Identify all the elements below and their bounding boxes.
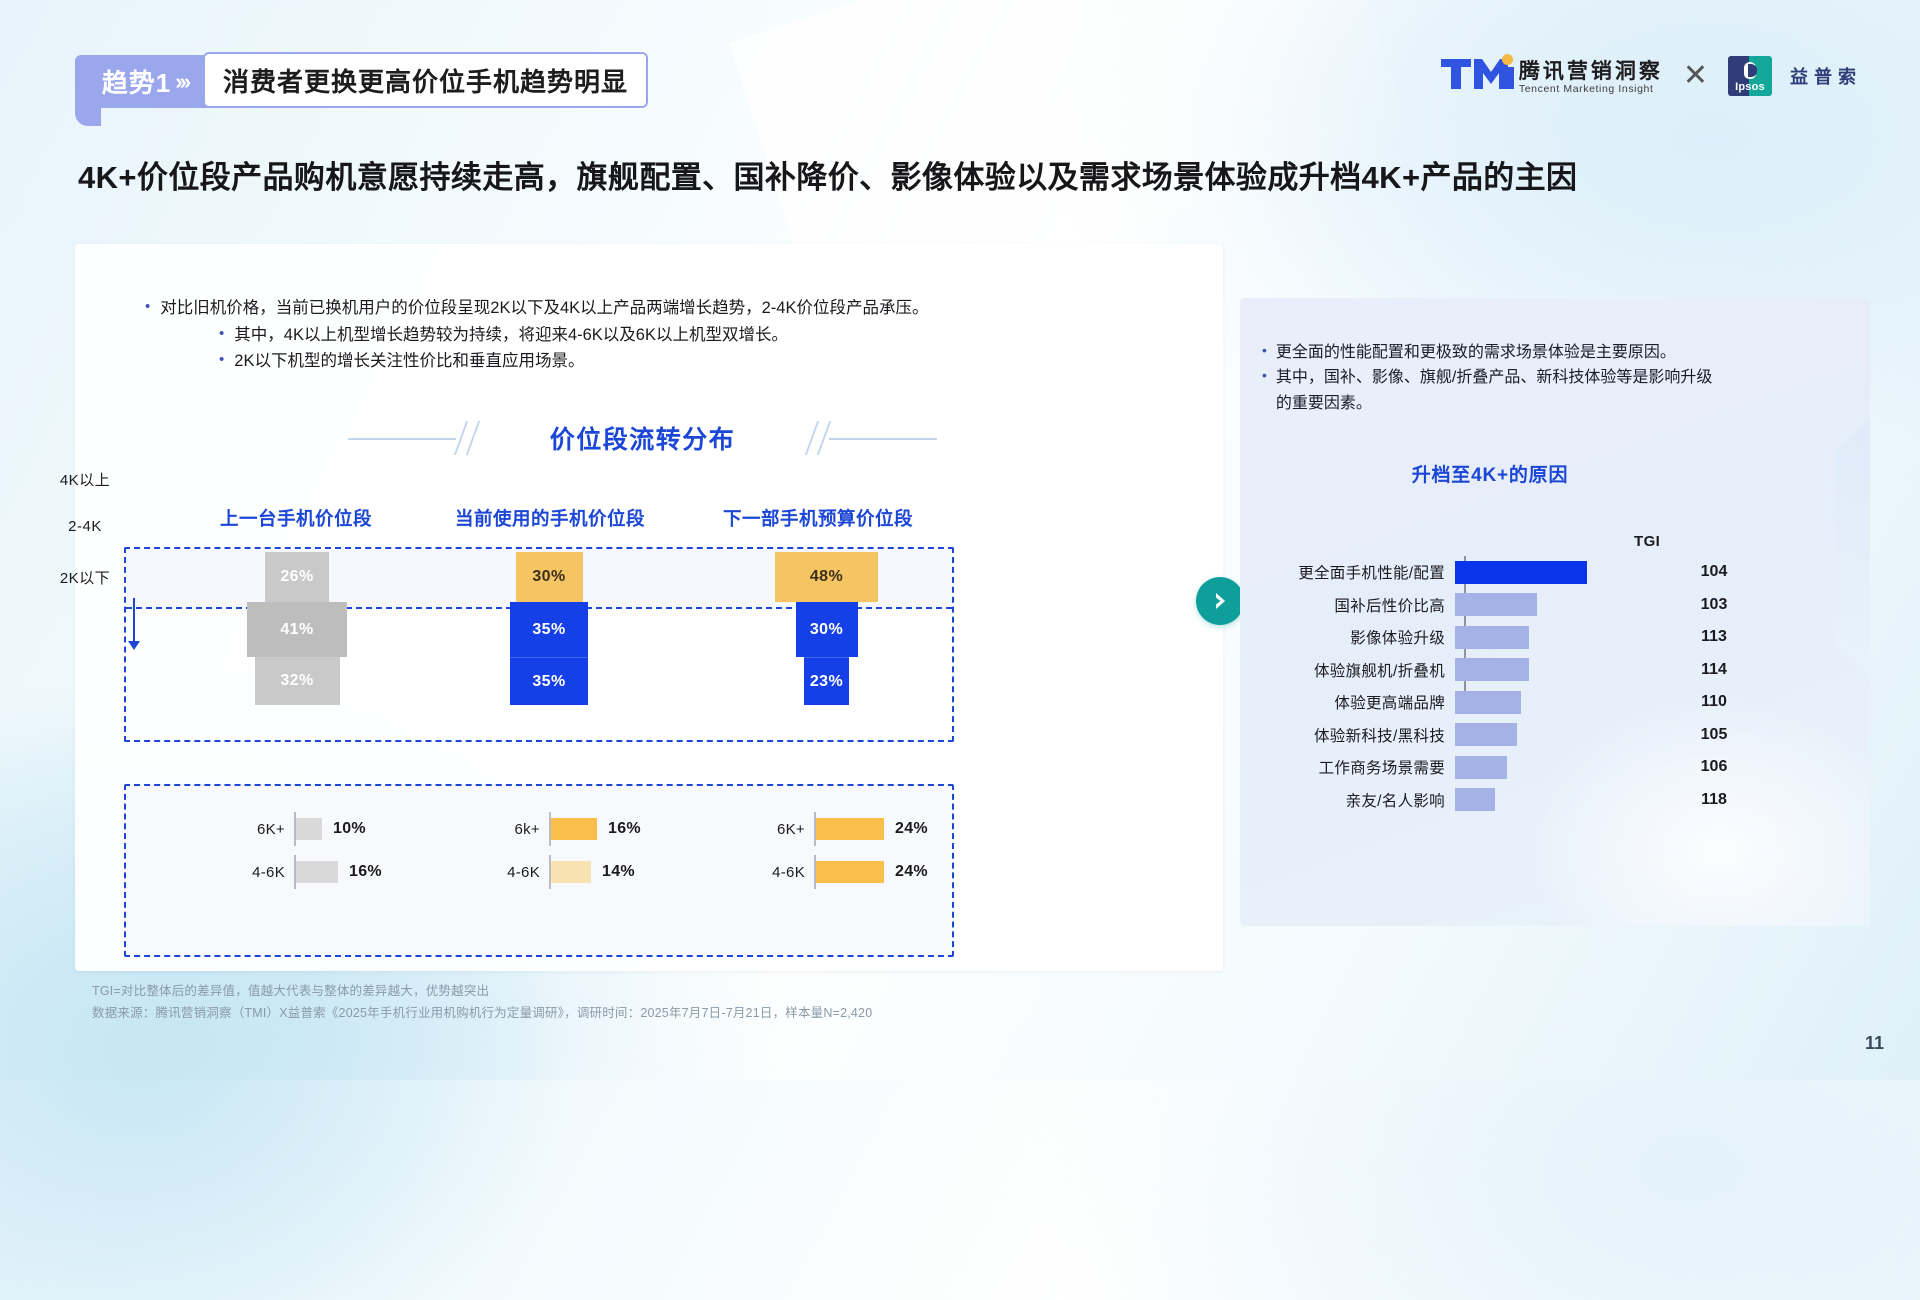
list-item: 6K+ 10% bbox=[225, 812, 382, 846]
tgi-value: 114 bbox=[1669, 661, 1759, 679]
page-number: 11 bbox=[1865, 1033, 1884, 1054]
funnel-segment: 30% bbox=[516, 552, 583, 602]
funnel-column-current: 30% 35% 35% bbox=[510, 552, 588, 705]
bullet-dot-icon: • bbox=[219, 348, 224, 372]
right-panel-title: 升档至4K+的原因 bbox=[1240, 460, 1740, 487]
trend-title: 消费者更换更高价位手机趋势明显 bbox=[203, 52, 648, 108]
tgi-bar-chart: 更全面手机性能/配置 104 国补后性价比高 103 影像体验升级 113 体验… bbox=[1035, 556, 1795, 816]
column-header-previous: 上一台手机价位段 bbox=[220, 505, 372, 531]
tgi-bar-track bbox=[1455, 593, 1635, 616]
detail-value: 16% bbox=[608, 820, 641, 838]
bullet-text: 其中，4K以上机型增长趋势较为持续，将迎来4-6K以及6K以上机型双增长。 bbox=[234, 322, 788, 349]
panel-notch bbox=[1836, 418, 1870, 678]
tgi-label: 体验更高端品牌 bbox=[1035, 691, 1455, 713]
funnel-segment: 35% bbox=[510, 657, 588, 705]
funnel-segment: 26% bbox=[265, 552, 329, 602]
footnotes: TGI=对比整体后的差异值，值越大代表与整体的差异越大，优势越突出 数据来源：腾… bbox=[92, 981, 872, 1025]
ipsos-wordmark: Ipsos bbox=[1728, 81, 1772, 93]
table-row: 影像体验升级 113 bbox=[1035, 621, 1795, 654]
funnel-segment: 41% bbox=[247, 602, 347, 657]
tgi-bar-track bbox=[1455, 756, 1635, 779]
tgi-bar-track bbox=[1455, 561, 1635, 584]
tgi-bar bbox=[1455, 593, 1537, 616]
tmi-chinese-name: 腾讯营销洞察 bbox=[1519, 61, 1663, 83]
trend-tag-label: 趋势1 bbox=[102, 63, 171, 100]
tgi-bar bbox=[1455, 788, 1495, 811]
detail-label: 4-6K bbox=[745, 864, 805, 881]
page-title: 4K+价位段产品购机意愿持续走高，旗舰配置、国补降价、影像体验以及需求场景体验成… bbox=[78, 152, 1878, 197]
funnel-segment: 48% bbox=[775, 552, 878, 602]
bullet-dot-icon: • bbox=[145, 295, 150, 319]
table-row: 体验更高端品牌 110 bbox=[1035, 686, 1795, 719]
list-item: • 其中，国补、影像、旗舰/折叠产品、新科技体验等是影响升级的重要因素。 bbox=[1262, 365, 1862, 416]
list-item: 4-6K 24% bbox=[745, 855, 928, 889]
funnel-row-label-2-4k: 2-4K bbox=[40, 518, 130, 535]
table-row: 国补后性价比高 103 bbox=[1035, 589, 1795, 622]
tmi-logomark-icon bbox=[1440, 57, 1514, 96]
column-header-next: 下一部手机预算价位段 bbox=[723, 505, 913, 531]
tgi-value: 103 bbox=[1669, 596, 1759, 614]
table-row: 工作商务场景需要 106 bbox=[1035, 751, 1795, 784]
section-title-block: 价位段流转分布 bbox=[185, 414, 1100, 462]
left-bullet-list: • 对比旧机价格，当前已换机用户的价位段呈现2K以下及4K以上产品两端增长趋势，… bbox=[145, 295, 1195, 375]
tgi-label: 亲友/名人影响 bbox=[1035, 789, 1455, 811]
detail-bar bbox=[296, 861, 338, 883]
chevrons-icon: ››› bbox=[175, 69, 188, 95]
tgi-label: 更全面手机性能/配置 bbox=[1035, 561, 1455, 583]
detail-bar bbox=[816, 818, 884, 840]
list-item: • 2K以下机型的增长关注性价比和垂直应用场景。 bbox=[219, 348, 1195, 375]
detail-label: 4-6K bbox=[480, 864, 540, 881]
tmi-logo: 腾讯营销洞察 Tencent Marketing Insight bbox=[1440, 57, 1663, 96]
table-row: 更全面手机性能/配置 104 bbox=[1035, 556, 1795, 589]
tgi-label: 工作商务场景需要 bbox=[1035, 756, 1455, 778]
detail-value: 16% bbox=[349, 863, 382, 881]
tgi-value: 113 bbox=[1669, 628, 1759, 646]
table-row: 亲友/名人影响 118 bbox=[1035, 784, 1795, 817]
tgi-value: 104 bbox=[1669, 563, 1759, 581]
detail-group-next: 6K+ 24% 4-6K 24% bbox=[745, 812, 928, 889]
detail-label: 6K+ bbox=[745, 821, 805, 838]
tgi-bar bbox=[1455, 756, 1507, 779]
bullet-dot-icon: • bbox=[219, 322, 224, 346]
right-bullet-list: • 更全面的性能配置和更极致的需求场景体验是主要原因。 • 其中，国补、影像、旗… bbox=[1262, 340, 1862, 416]
column-header-current: 当前使用的手机价位段 bbox=[455, 505, 645, 531]
ipsos-logomark-icon: Ipsos bbox=[1728, 56, 1772, 96]
tgi-bar bbox=[1455, 723, 1517, 746]
tgi-label: 国补后性价比高 bbox=[1035, 594, 1455, 616]
title-wing-left-icon bbox=[348, 421, 528, 455]
tgi-value: 118 bbox=[1669, 791, 1759, 809]
list-item: • 对比旧机价格，当前已换机用户的价位段呈现2K以下及4K以上产品两端增长趋势，… bbox=[145, 295, 1195, 322]
list-item: • 其中，4K以上机型增长趋势较为持续，将迎来4-6K以及6K以上机型双增长。 bbox=[219, 322, 1195, 349]
footnote-line-2: 数据来源：腾讯营销洞察（TMI）X益普索《2025年手机行业用机购机行为定量调研… bbox=[92, 1003, 872, 1025]
tgi-bar-track bbox=[1455, 658, 1635, 681]
detail-bar bbox=[551, 818, 597, 840]
tgi-label: 体验新科技/黑科技 bbox=[1035, 724, 1455, 746]
tgi-bar-track bbox=[1455, 626, 1635, 649]
funnel-segment: 30% bbox=[796, 602, 858, 657]
bullet-dot-icon: • bbox=[1262, 340, 1267, 362]
bullet-dot-icon: • bbox=[1262, 365, 1267, 387]
funnel-row-label-2k-below: 2K以下 bbox=[40, 567, 130, 588]
list-item: 6K+ 24% bbox=[745, 812, 928, 846]
detail-group-previous: 6K+ 10% 4-6K 16% bbox=[225, 812, 382, 889]
funnel-column-next: 48% 30% 23% bbox=[775, 552, 878, 705]
detail-bar bbox=[816, 861, 884, 883]
section-title: 价位段流转分布 bbox=[550, 420, 736, 456]
funnel-column-previous: 26% 41% 32% bbox=[247, 552, 347, 705]
tgi-label: 影像体验升级 bbox=[1035, 626, 1455, 648]
detail-label: 4-6K bbox=[225, 864, 285, 881]
tgi-bar bbox=[1455, 561, 1587, 584]
funnel-row-label-4k-plus: 4K以上 bbox=[40, 469, 130, 490]
detail-bar bbox=[296, 818, 322, 840]
tgi-bar-track bbox=[1455, 788, 1635, 811]
brand-lockup: 腾讯营销洞察 Tencent Marketing Insight ✕ Ipsos… bbox=[1440, 48, 1862, 104]
tmi-english-name: Tencent Marketing Insight bbox=[1519, 83, 1663, 96]
detail-value: 10% bbox=[333, 820, 366, 838]
tgi-bar bbox=[1455, 626, 1529, 649]
footnote-line-1: TGI=对比整体后的差异值，值越大代表与整体的差异越大，优势越突出 bbox=[92, 981, 872, 1003]
bullet-text: 对比旧机价格，当前已换机用户的价位段呈现2K以下及4K以上产品两端增长趋势，2-… bbox=[160, 295, 928, 322]
bullet-text: 其中，国补、影像、旗舰/折叠产品、新科技体验等是影响升级的重要因素。 bbox=[1276, 365, 1726, 416]
tgi-bar-track bbox=[1455, 691, 1635, 714]
list-item: 6k+ 16% bbox=[480, 812, 641, 846]
funnel-segment: 35% bbox=[510, 602, 588, 657]
trend-tag: 趋势1 ››› bbox=[75, 55, 215, 108]
list-item: • 更全面的性能配置和更极致的需求场景体验是主要原因。 bbox=[1262, 340, 1862, 365]
tmi-dot-icon bbox=[1502, 54, 1513, 65]
table-row: 体验旗舰机/折叠机 114 bbox=[1035, 654, 1795, 687]
detail-label: 6k+ bbox=[480, 821, 540, 838]
ipsos-chinese-name: 益普索 bbox=[1790, 63, 1862, 89]
brand-x-icon: ✕ bbox=[1681, 61, 1710, 91]
funnel-segment: 23% bbox=[804, 657, 849, 705]
detail-group-current: 6k+ 16% 4-6K 14% bbox=[480, 812, 641, 889]
funnel-segment: 32% bbox=[255, 657, 340, 705]
detail-bar bbox=[551, 861, 591, 883]
tgi-bar-track bbox=[1455, 723, 1635, 746]
list-item: 4-6K 16% bbox=[225, 855, 382, 889]
tgi-label: 体验旗舰机/折叠机 bbox=[1035, 659, 1455, 681]
title-wing-right-icon bbox=[757, 421, 937, 455]
detail-value: 14% bbox=[602, 863, 635, 881]
detail-value: 24% bbox=[895, 863, 928, 881]
tgi-value: 110 bbox=[1669, 693, 1759, 711]
flow-down-arrow-icon bbox=[133, 598, 135, 642]
list-item: 4-6K 14% bbox=[480, 855, 641, 889]
tgi-column-header: TGI bbox=[1634, 533, 1660, 550]
table-row: 体验新科技/黑科技 105 bbox=[1035, 719, 1795, 752]
detail-value: 24% bbox=[895, 820, 928, 838]
bullet-text: 更全面的性能配置和更极致的需求场景体验是主要原因。 bbox=[1276, 340, 1676, 365]
tgi-bar bbox=[1455, 691, 1521, 714]
bullet-text: 2K以下机型的增长关注性价比和垂直应用场景。 bbox=[234, 348, 584, 375]
tgi-value: 105 bbox=[1669, 726, 1759, 744]
tgi-bar bbox=[1455, 658, 1529, 681]
detail-label: 6K+ bbox=[225, 821, 285, 838]
tgi-value: 106 bbox=[1669, 758, 1759, 776]
